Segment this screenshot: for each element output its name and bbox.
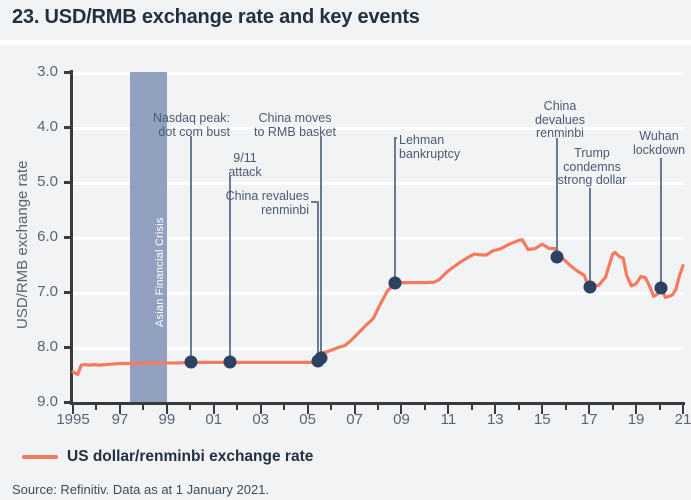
annotation-marker-basket[interactable]: [314, 352, 327, 365]
series-layer: [0, 0, 691, 500]
legend-label: US dollar/renminbi exchange rate: [67, 448, 313, 466]
annotation-label-basket: China moves to RMB basket: [254, 112, 336, 139]
legend-line-swatch: [22, 455, 58, 459]
annotation-marker-lehman[interactable]: [388, 276, 401, 289]
annotation-marker-wuhan[interactable]: [654, 281, 667, 294]
series-line-usd-rmb: [73, 240, 683, 375]
annotation-leader-trump: [589, 188, 591, 287]
annotation-marker-sept11[interactable]: [224, 356, 237, 369]
annotation-leader-basket: [320, 136, 322, 358]
annotation-label-sept11: 9/11 attack: [228, 152, 261, 179]
annotation-marker-devalue[interactable]: [550, 251, 563, 264]
annotation-marker-trump[interactable]: [584, 280, 597, 293]
annotation-label-nasdaq: Nasdaq peak: dot com bust: [70, 112, 230, 139]
source-note: Source: Refinitiv. Data as at 1 January …: [12, 482, 269, 497]
chart-legend[interactable]: US dollar/renminbi exchange rate: [22, 448, 313, 466]
annotation-label-devalue: China devalues renminbi: [535, 100, 585, 141]
annotation-leader-lehman: [394, 137, 396, 283]
annotation-label-trump: Trump condemns strong dollar: [558, 147, 627, 188]
annotation-label-revalue: China revalues renminbi: [149, 190, 309, 217]
annotation-marker-nasdaq[interactable]: [185, 356, 198, 369]
annotation-label-wuhan: Wuhan lockdown: [633, 130, 685, 157]
annotation-leader-nasdaq: [190, 136, 192, 362]
annotation-leader-wuhan: [660, 158, 662, 288]
annotation-label-lehman: Lehman bankruptcy: [399, 134, 460, 161]
